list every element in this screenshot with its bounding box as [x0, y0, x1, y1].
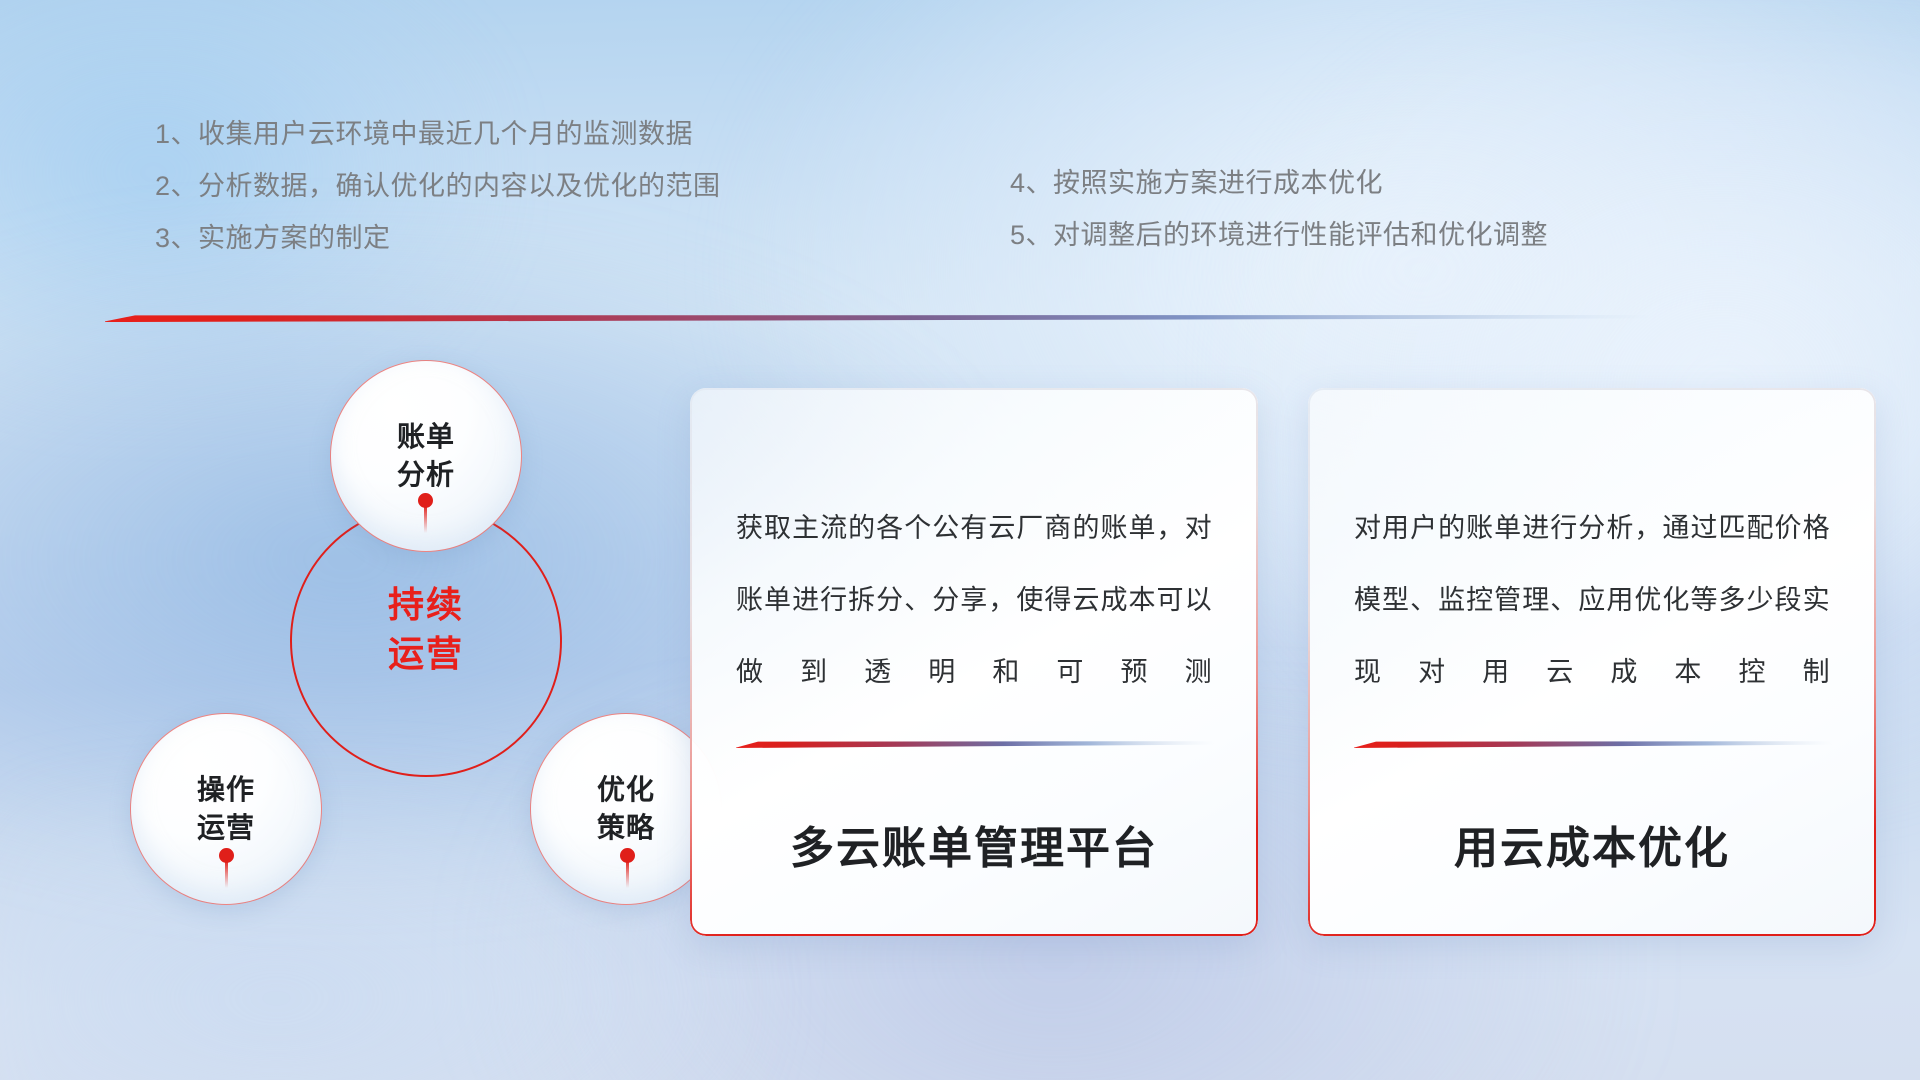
step-item-4: 4、按照实施方案进行成本优化: [1010, 157, 1548, 209]
diagram-center-label: 持续 运营: [290, 580, 562, 678]
step-item-5: 5、对调整后的环境进行性能评估和优化调整: [1010, 209, 1548, 261]
continuous-operation-diagram: 持续 运营 账单 分析 操作 运营 优化 策略: [60, 340, 680, 950]
card-1-body-text: 获取主流的各个公有云厂商的账单，对账单进行拆分、分享，使得云成本可以做到透明和可…: [736, 492, 1212, 708]
diagram-center-label-line2: 运营: [290, 629, 562, 678]
step-item-2: 2、分析数据，确认优化的内容以及优化的范围: [155, 160, 721, 212]
section-divider: [105, 312, 1653, 322]
step-item-1: 1、收集用户云环境中最近几个月的监测数据: [155, 108, 721, 160]
diagram-node-left-line2: 运营: [197, 809, 255, 847]
steps-list-left: 1、收集用户云环境中最近几个月的监测数据 2、分析数据，确认优化的内容以及优化的…: [155, 108, 721, 264]
diagram-dot-top-icon: [418, 493, 433, 508]
diagram-dot-left-icon: [219, 848, 234, 863]
card-2-body-text: 对用户的账单进行分析，通过匹配价格模型、监控管理、应用优化等多少段实现对用云成本…: [1354, 492, 1830, 708]
step-item-3: 3、实施方案的制定: [155, 212, 721, 264]
card-2-divider: [1354, 739, 1832, 748]
diagram-dot-right-icon: [620, 848, 635, 863]
card-1-divider-gradient: [736, 739, 1214, 748]
diagram-center-label-line1: 持续: [290, 580, 562, 629]
card-cloud-cost-optimization[interactable]: 对用户的账单进行分析，通过匹配价格模型、监控管理、应用优化等多少段实现对用云成本…: [1308, 388, 1876, 936]
card-multicloud-billing-platform[interactable]: 获取主流的各个公有云厂商的账单，对账单进行拆分、分享，使得云成本可以做到透明和可…: [690, 388, 1258, 936]
diagram-node-left-line1: 操作: [197, 771, 255, 809]
steps-list-right: 4、按照实施方案进行成本优化 5、对调整后的环境进行性能评估和优化调整: [1010, 157, 1548, 261]
card-2-title: 用云成本优化: [1354, 812, 1830, 936]
card-2-divider-gradient: [1354, 739, 1832, 748]
section-divider-gradient: [105, 312, 1653, 322]
diagram-node-top-line2: 分析: [397, 456, 455, 494]
card-1-divider: [736, 739, 1214, 748]
diagram-node-right-line2: 策略: [597, 809, 655, 847]
diagram-node-right-line1: 优化: [597, 771, 655, 809]
diagram-node-top-line1: 账单: [397, 418, 455, 456]
card-1-title: 多云账单管理平台: [736, 812, 1212, 936]
